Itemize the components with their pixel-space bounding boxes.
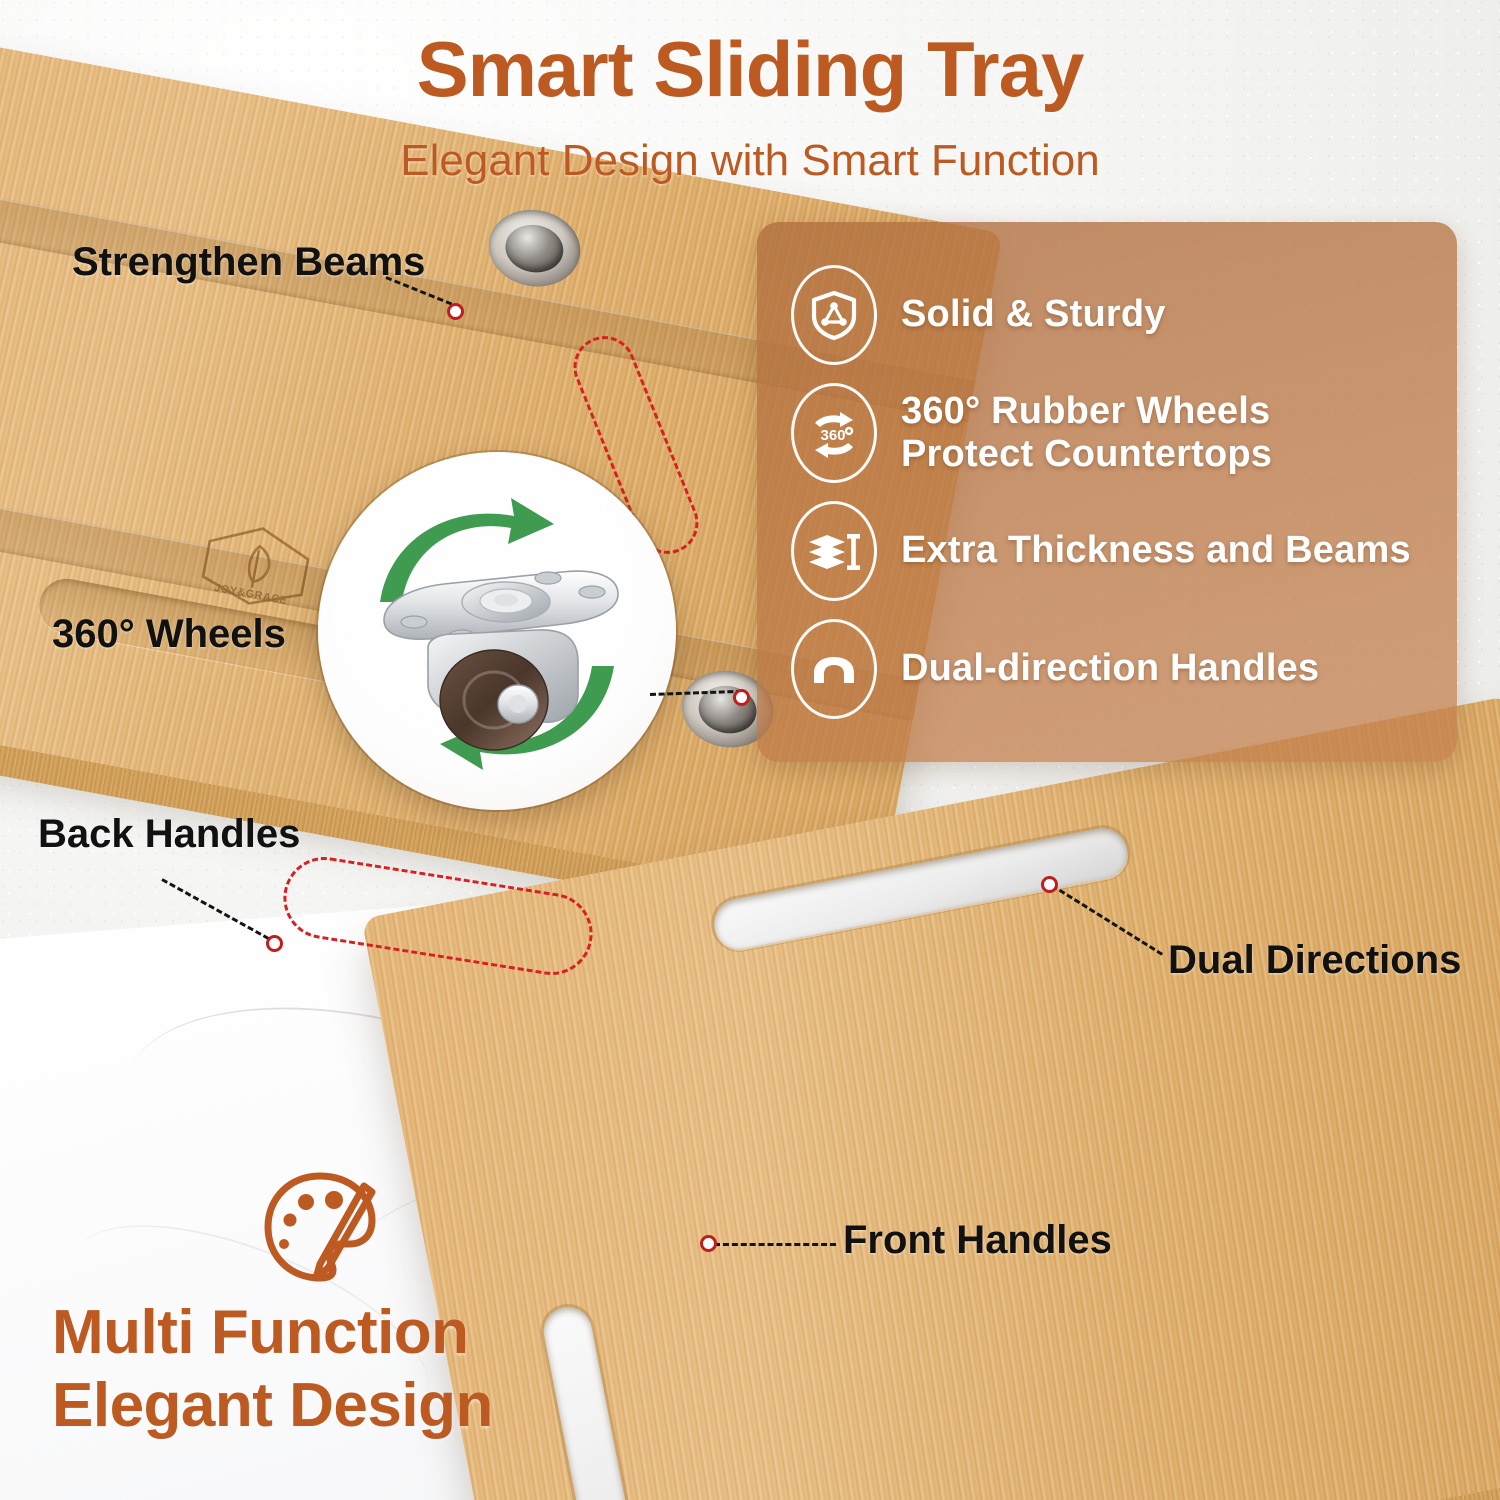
callout-dot — [447, 303, 464, 320]
360-rotation-icon: 360 — [791, 383, 877, 483]
caster-wheel-inset — [318, 452, 676, 810]
callout-dot — [1041, 876, 1058, 893]
feature-row[interactable]: 360 360° Rubber Wheels Protect Counterto… — [791, 377, 1431, 489]
infographic-canvas: JOY&GRACE — [0, 0, 1500, 1500]
callout-dot — [700, 1235, 717, 1252]
handle-icon — [791, 619, 877, 719]
annotation-back-handles: Back Handles — [38, 812, 300, 857]
callout-dot — [266, 935, 283, 952]
feature-row[interactable]: Extra Thickness and Beams — [791, 495, 1431, 607]
svg-text:360: 360 — [820, 427, 845, 444]
swivel-caster-wheel-icon — [366, 544, 634, 760]
annotation-front-handles: Front Handles — [843, 1218, 1112, 1263]
feature-list-panel: Solid & Sturdy 360 360° Rubber Wheels Pr… — [757, 222, 1457, 762]
feature-label: Extra Thickness and Beams — [901, 529, 1411, 572]
annotation-strengthen-beams: Strengthen Beams — [72, 240, 425, 285]
feature-row[interactable]: Solid & Sturdy — [791, 259, 1431, 371]
shield-icon — [791, 265, 877, 365]
feature-row[interactable]: Dual-direction Handles — [791, 613, 1431, 725]
page-title: Smart Sliding Tray — [0, 24, 1500, 115]
feature-label: 360° Rubber Wheels Protect Countertops — [901, 390, 1272, 477]
palette-icon — [254, 1160, 384, 1290]
bottom-headline: Multi Function Elegant Design — [52, 1296, 672, 1442]
feature-label: Dual-direction Handles — [901, 647, 1319, 690]
feature-label: Solid & Sturdy — [901, 293, 1166, 336]
bottom-headline-line2: Elegant Design — [52, 1369, 672, 1442]
layers-thickness-icon — [791, 501, 877, 601]
annotation-dual-directions: Dual Directions — [1168, 938, 1461, 983]
bottom-headline-line1: Multi Function — [52, 1296, 672, 1369]
callout-dot — [733, 689, 750, 706]
annotation-360-wheels: 360° Wheels — [52, 612, 286, 657]
leader-line — [714, 1243, 836, 1246]
page-subtitle: Elegant Design with Smart Function — [0, 136, 1500, 186]
